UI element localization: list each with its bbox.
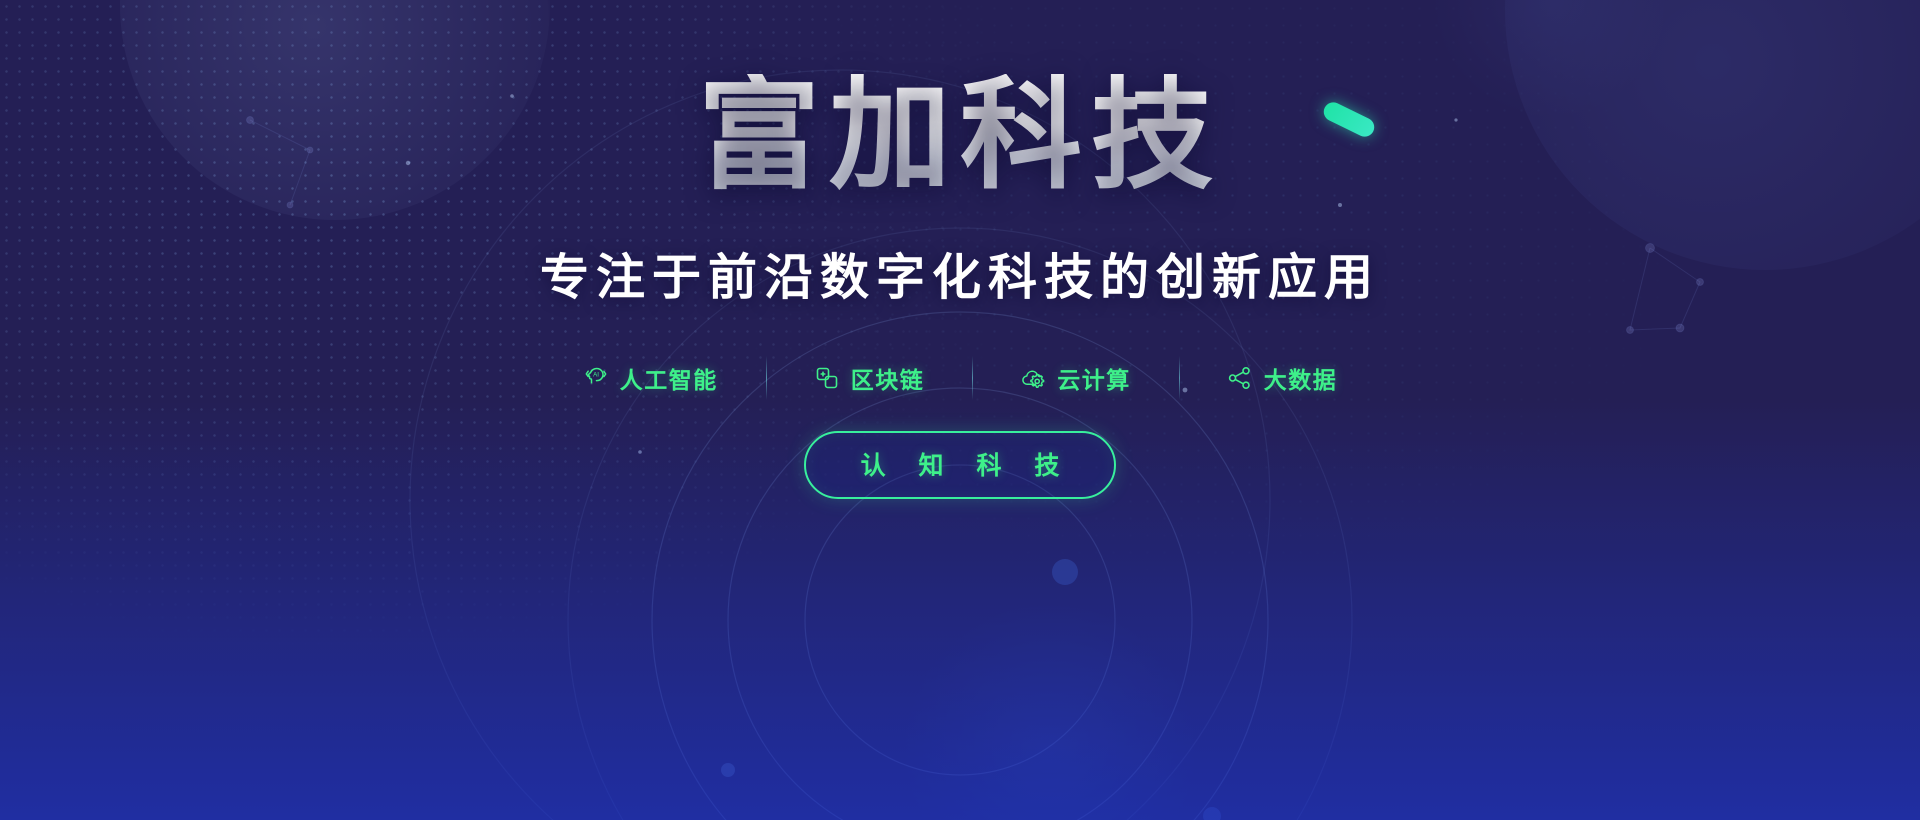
hero-banner: 富 加 科 技 专注于前沿数字化科技的创新应用 AI 人工智能 bbox=[0, 0, 1920, 820]
feature-label-blockchain: 区块链 bbox=[851, 361, 925, 395]
feature-item-ai[interactable]: AI 人工智能 bbox=[535, 361, 766, 395]
share-nodes-icon bbox=[1227, 365, 1253, 391]
logo-char-4: 技 bbox=[1091, 74, 1222, 196]
company-logo-title: 富 加 科 技 bbox=[698, 74, 1222, 196]
feature-label-cloud: 云计算 bbox=[1057, 361, 1131, 395]
svg-text:AI: AI bbox=[593, 372, 599, 379]
blockchain-icon bbox=[814, 365, 840, 391]
feature-item-cloud[interactable]: 云计算 bbox=[972, 361, 1179, 395]
logo-char-2: 加 bbox=[829, 74, 960, 196]
ai-brain-icon: AI bbox=[583, 365, 609, 391]
logo-accent-stroke bbox=[1321, 99, 1378, 140]
feature-label-bigdata: 大数据 bbox=[1264, 361, 1338, 395]
logo-char-3: 科 bbox=[960, 74, 1091, 196]
feature-item-blockchain[interactable]: 区块链 bbox=[766, 361, 973, 395]
cloud-gear-icon bbox=[1020, 365, 1046, 391]
hero-content: 富 加 科 技 专注于前沿数字化科技的创新应用 AI 人工智能 bbox=[0, 0, 1920, 820]
feature-item-bigdata[interactable]: 大数据 bbox=[1179, 361, 1386, 395]
feature-list: AI 人工智能 区块链 bbox=[535, 361, 1386, 395]
cognitive-tech-badge[interactable]: 认 知 科 技 bbox=[804, 431, 1117, 499]
hero-subtitle: 专注于前沿数字化科技的创新应用 bbox=[540, 238, 1380, 309]
logo-char-1: 富 bbox=[698, 74, 829, 196]
feature-label-ai: 人工智能 bbox=[620, 361, 718, 395]
